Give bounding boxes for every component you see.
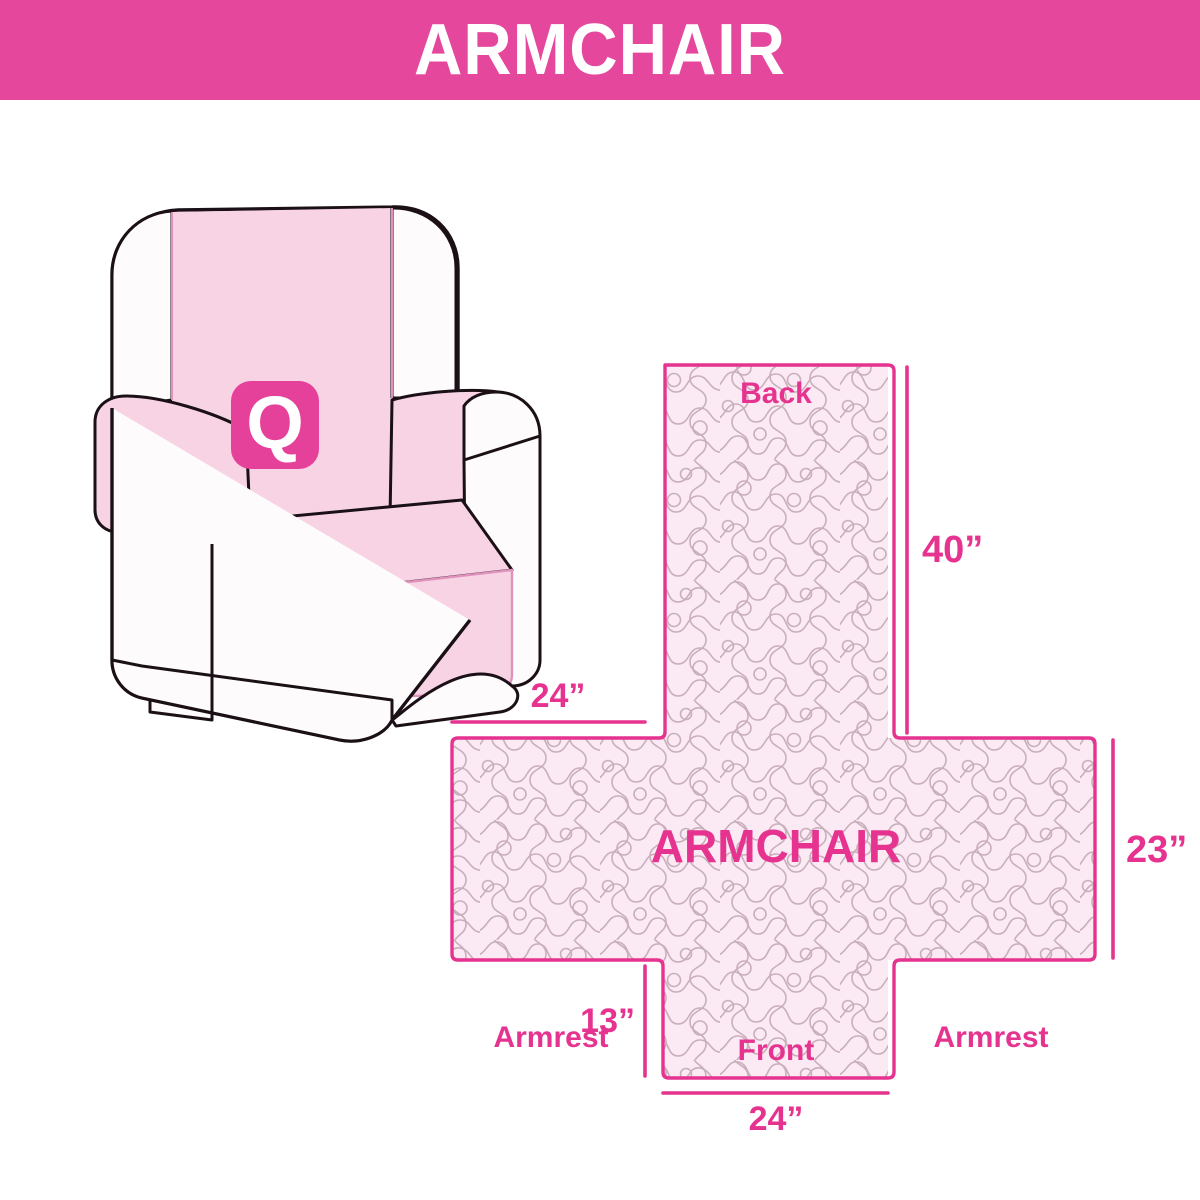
dimension-seat-depth: 23” xyxy=(1113,740,1187,958)
panel-label-back: Back xyxy=(740,377,812,410)
dimension-value-back-width: 24” xyxy=(531,677,586,715)
page-title: ARMCHAIR xyxy=(414,14,786,86)
dimension-value-seat-depth: 23” xyxy=(1126,829,1187,871)
diagram-center-label: ARMCHAIR xyxy=(651,820,901,872)
panel-label-front: Front xyxy=(738,1034,815,1067)
brand-logo: Q xyxy=(231,381,319,469)
dimension-front-height: 13” xyxy=(580,966,645,1076)
panel-label-armrest-right: Armrest xyxy=(933,1021,1048,1054)
dimension-value-front-width: 24” xyxy=(749,1100,804,1138)
armchair-size-diagram: Q Back Armrest Armrest Front ARMCHAIR 40… xyxy=(0,100,1200,1200)
header-banner: ARMCHAIR xyxy=(0,0,1200,100)
dimension-value-front-height: 13” xyxy=(580,1002,635,1040)
dimension-back-height: 40” xyxy=(907,367,983,733)
dimension-front-width: 24” xyxy=(663,1093,888,1138)
dimension-value-back-height: 40” xyxy=(922,529,983,571)
diagram-canvas: Q Back Armrest Armrest Front ARMCHAIR 40… xyxy=(0,100,1200,1200)
brand-logo-letter: Q xyxy=(246,381,304,464)
armchair-illustration: Q xyxy=(95,207,540,741)
